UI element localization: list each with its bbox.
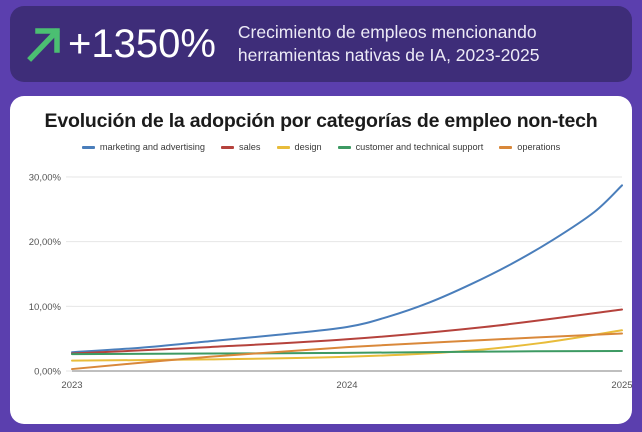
line-chart-svg: 30,00%20,00%10,00%0,00% 202320242025 xyxy=(10,156,632,406)
legend-swatch-icon xyxy=(499,146,512,149)
series-lines xyxy=(72,185,622,369)
header-description: Crecimiento de empleos mencionando herra… xyxy=(238,21,618,67)
legend-swatch-icon xyxy=(221,146,234,149)
plot-area: 30,00%20,00%10,00%0,00% 202320242025 xyxy=(10,156,632,406)
legend-swatch-icon xyxy=(82,146,95,149)
chart-legend: marketing and advertising sales design c… xyxy=(10,142,632,152)
legend-item-marketing-and-advertising[interactable]: marketing and advertising xyxy=(82,142,205,152)
legend-item-sales[interactable]: sales xyxy=(221,142,260,152)
x-axis-tick-label: 2025 xyxy=(611,380,632,391)
legend-swatch-icon xyxy=(277,146,290,149)
chart-card: Evolución de la adopción por categorías … xyxy=(10,96,632,424)
legend-item-operations[interactable]: operations xyxy=(499,142,560,152)
legend-label: sales xyxy=(239,142,260,152)
y-axis-tick-label: 10,00% xyxy=(29,302,62,313)
series-line-design xyxy=(72,330,622,360)
series-line-marketing-and-advertising xyxy=(72,185,622,352)
header-banner: +1350% Crecimiento de empleos mencionand… xyxy=(10,6,632,82)
legend-swatch-icon xyxy=(338,146,351,149)
y-axis-tick-label: 0,00% xyxy=(34,367,61,378)
legend-label: marketing and advertising xyxy=(100,142,205,152)
legend-item-customer-and-technical-support[interactable]: customer and technical support xyxy=(338,142,484,152)
gridlines xyxy=(66,177,622,371)
legend-label: customer and technical support xyxy=(356,142,484,152)
series-line-customer-and-technical-support xyxy=(72,351,622,354)
y-axis-tick-label: 30,00% xyxy=(29,172,62,183)
y-axis-tick-labels: 30,00%20,00%10,00%0,00% xyxy=(29,172,62,377)
x-axis-tick-labels: 202320242025 xyxy=(61,380,632,391)
legend-item-design[interactable]: design xyxy=(277,142,322,152)
chart-title: Evolución de la adopción por categorías … xyxy=(10,110,632,133)
growth-value: +1350% xyxy=(68,24,216,64)
arrow-up-right-icon xyxy=(24,23,64,65)
legend-label: design xyxy=(295,142,322,152)
x-axis-tick-label: 2024 xyxy=(336,380,357,391)
x-axis-tick-label: 2023 xyxy=(61,380,82,391)
y-axis-tick-label: 20,00% xyxy=(29,237,62,248)
legend-label: operations xyxy=(517,142,560,152)
